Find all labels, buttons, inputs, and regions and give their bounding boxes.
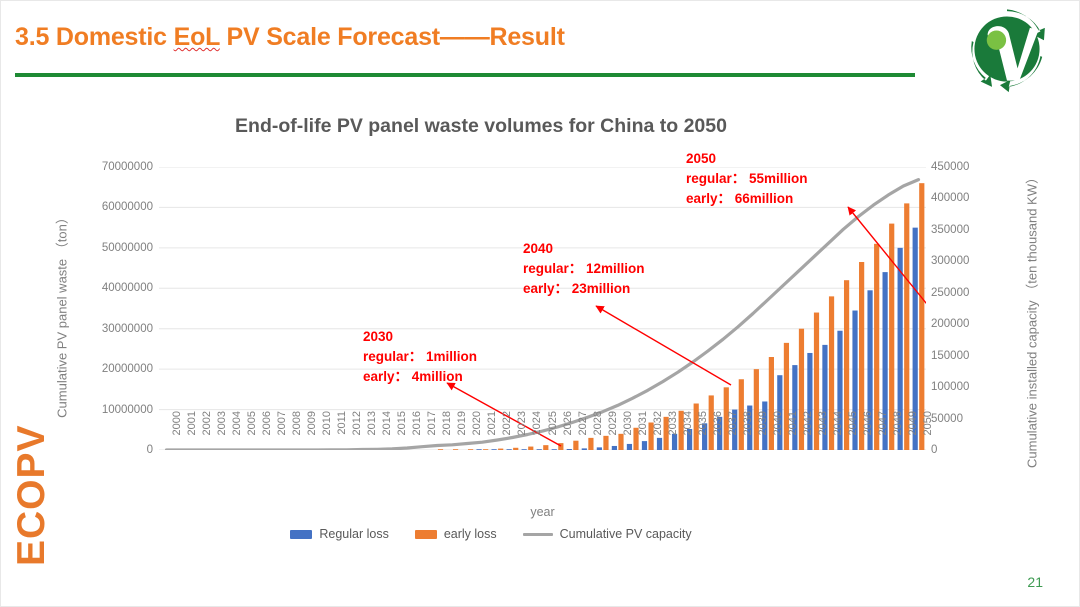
x-axis-tick-label: 2030 bbox=[622, 411, 634, 455]
x-axis-tick-label: 2021 bbox=[486, 411, 498, 455]
x-axis-tick-label: 2046 bbox=[862, 411, 874, 455]
x-axis-tick-label: 2001 bbox=[186, 411, 198, 455]
x-axis-tick-label: 2040 bbox=[772, 411, 784, 455]
x-axis-tick-label: 2036 bbox=[712, 411, 724, 455]
x-axis-tick-label: 2050 bbox=[922, 411, 934, 455]
x-axis-tick-label: 2047 bbox=[877, 411, 889, 455]
y-axis-left-tick-label: 30000000 bbox=[102, 323, 153, 335]
y-axis-left-tick-label: 70000000 bbox=[102, 161, 153, 173]
legend-label-regular-loss: Regular loss bbox=[319, 527, 388, 541]
y-axis-left-tick-label: 20000000 bbox=[102, 363, 153, 375]
x-axis-tick-label: 2039 bbox=[757, 411, 769, 455]
x-axis-tick-label: 2008 bbox=[291, 411, 303, 455]
annotation-2030: 2030 regular： 1million early： 4million bbox=[363, 327, 477, 387]
logo-svg bbox=[961, 5, 1053, 93]
x-axis-tick-label: 2049 bbox=[907, 411, 919, 455]
ecopv-recycling-logo bbox=[961, 5, 1053, 93]
x-axis-tick-label: 2032 bbox=[652, 411, 664, 455]
x-axis-tick-label: 2020 bbox=[471, 411, 483, 455]
legend-label-cumulative-capacity: Cumulative PV capacity bbox=[560, 527, 692, 541]
y-axis-left-tick-label: 10000000 bbox=[102, 404, 153, 416]
y-axis-right-title: Cumulative installed capacity （ten thous… bbox=[1022, 160, 1041, 480]
annotation-2040: 2040 regular： 12million early： 23million bbox=[523, 239, 645, 299]
slide-canvas: 3.5 Domestic EoL PV Scale Forecast——Resu… bbox=[0, 0, 1080, 607]
x-axis-tick-label: 2010 bbox=[321, 411, 333, 455]
x-axis-tick-label: 2041 bbox=[787, 411, 799, 455]
x-axis-tick-label: 2027 bbox=[577, 411, 589, 455]
x-axis-tick-label: 2017 bbox=[426, 411, 438, 455]
x-axis-tick-label: 2031 bbox=[637, 411, 649, 455]
y-axis-right-ticks: 0500001000001500002000002500003000003500… bbox=[931, 167, 991, 450]
x-axis-tick-label: 2028 bbox=[592, 411, 604, 455]
x-axis-tick-label: 2003 bbox=[216, 411, 228, 455]
annotation-2050: 2050 regular： 55million early： 66million bbox=[686, 149, 808, 209]
y-axis-left-tick-label: 40000000 bbox=[102, 282, 153, 294]
x-axis-tick-label: 2048 bbox=[892, 411, 904, 455]
x-axis-tick-label: 2018 bbox=[441, 411, 453, 455]
y-axis-right-tick-label: 400000 bbox=[931, 192, 969, 204]
annotation-2050-early: early： 66million bbox=[686, 189, 808, 209]
y-axis-right-tick-label: 250000 bbox=[931, 287, 969, 299]
x-axis-tick-label: 2011 bbox=[336, 411, 348, 455]
x-axis-tick-label: 2007 bbox=[276, 411, 288, 455]
x-axis-tick-label: 2025 bbox=[547, 411, 559, 455]
page-title: 3.5 Domestic EoL PV Scale Forecast——Resu… bbox=[15, 23, 565, 52]
annotation-2030-regular: regular： 1million bbox=[363, 347, 477, 367]
annotation-2030-early: early： 4million bbox=[363, 367, 477, 387]
plot-area bbox=[159, 167, 926, 450]
title-spellcheck-word: EoL bbox=[174, 23, 220, 51]
y-axis-right-tick-label: 450000 bbox=[931, 161, 969, 173]
legend-item-early-loss: early loss bbox=[415, 527, 497, 541]
legend-item-regular-loss: Regular loss bbox=[290, 527, 388, 541]
x-axis-tick-label: 2022 bbox=[501, 411, 513, 455]
legend-item-cumulative-capacity: Cumulative PV capacity bbox=[523, 527, 692, 541]
annotation-2040-early: early： 23million bbox=[523, 279, 645, 299]
y-axis-left-tick-label: 60000000 bbox=[102, 201, 153, 213]
x-axis-tick-label: 2019 bbox=[456, 411, 468, 455]
slide-page-number: 21 bbox=[1027, 574, 1043, 590]
x-axis-tick-label: 2005 bbox=[246, 411, 258, 455]
y-axis-left-tick-label: 0 bbox=[147, 444, 153, 456]
chart-legend: Regular loss early loss Cumulative PV ca… bbox=[41, 527, 941, 541]
title-post: PV Scale Forecast——Result bbox=[220, 23, 565, 51]
y-axis-right-tick-label: 50000 bbox=[931, 413, 963, 425]
legend-swatch-cumulative-capacity bbox=[523, 533, 553, 536]
chart-title: End-of-life PV panel waste volumes for C… bbox=[41, 115, 921, 138]
x-axis-tick-label: 2009 bbox=[306, 411, 318, 455]
annotation-2030-year: 2030 bbox=[363, 327, 477, 347]
x-axis-tick-label: 2034 bbox=[682, 411, 694, 455]
y-axis-right-tick-label: 200000 bbox=[931, 318, 969, 330]
annotation-2050-year: 2050 bbox=[686, 149, 808, 169]
x-axis-tick-label: 2044 bbox=[832, 411, 844, 455]
x-axis-tick-label: 2045 bbox=[847, 411, 859, 455]
x-axis-tick-label: 2033 bbox=[667, 411, 679, 455]
x-axis-tick-label: 2043 bbox=[817, 411, 829, 455]
x-axis-tick-label: 2038 bbox=[742, 411, 754, 455]
title-pre: 3.5 Domestic bbox=[15, 23, 174, 51]
chart-container: End-of-life PV panel waste volumes for C… bbox=[41, 105, 1041, 560]
x-axis-tick-label: 2012 bbox=[351, 411, 363, 455]
x-axis-tick-label: 2002 bbox=[201, 411, 213, 455]
annotation-2040-year: 2040 bbox=[523, 239, 645, 259]
legend-swatch-early-loss bbox=[415, 530, 437, 539]
x-axis-tick-label: 2023 bbox=[516, 411, 528, 455]
x-axis-tick-label: 2024 bbox=[531, 411, 543, 455]
header-divider-rule bbox=[15, 73, 915, 77]
plot-svg bbox=[159, 167, 926, 450]
y-axis-right-tick-label: 350000 bbox=[931, 224, 969, 236]
y-axis-left-ticks: 0100000002000000030000000400000005000000… bbox=[51, 167, 153, 450]
y-axis-right-tick-label: 150000 bbox=[931, 350, 969, 362]
legend-label-early-loss: early loss bbox=[444, 527, 497, 541]
y-axis-left-tick-label: 50000000 bbox=[102, 242, 153, 254]
x-axis-tick-label: 2006 bbox=[261, 411, 273, 455]
x-axis-tick-label: 2029 bbox=[607, 411, 619, 455]
y-axis-right-tick-label: 300000 bbox=[931, 255, 969, 267]
legend-swatch-regular-loss bbox=[290, 530, 312, 539]
x-axis-tick-label: 2000 bbox=[171, 411, 183, 455]
x-axis-tick-label: 2016 bbox=[411, 411, 423, 455]
y-axis-right-tick-label: 100000 bbox=[931, 381, 969, 393]
x-axis-tick-label: 2004 bbox=[231, 411, 243, 455]
x-axis-tick-label: 2026 bbox=[562, 411, 574, 455]
x-axis-tick-label: 2014 bbox=[381, 411, 393, 455]
annotation-2040-regular: regular： 12million bbox=[523, 259, 645, 279]
x-axis-tick-label: 2015 bbox=[396, 411, 408, 455]
x-axis-tick-label: 2035 bbox=[697, 411, 709, 455]
x-axis-ticks: 2000200120022003200420052006200720082009… bbox=[159, 455, 926, 503]
x-axis-tick-label: 2042 bbox=[802, 411, 814, 455]
annotation-2050-regular: regular： 55million bbox=[686, 169, 808, 189]
x-axis-tick-label: 2037 bbox=[727, 411, 739, 455]
x-axis-title: year bbox=[159, 505, 926, 519]
x-axis-tick-label: 2013 bbox=[366, 411, 378, 455]
